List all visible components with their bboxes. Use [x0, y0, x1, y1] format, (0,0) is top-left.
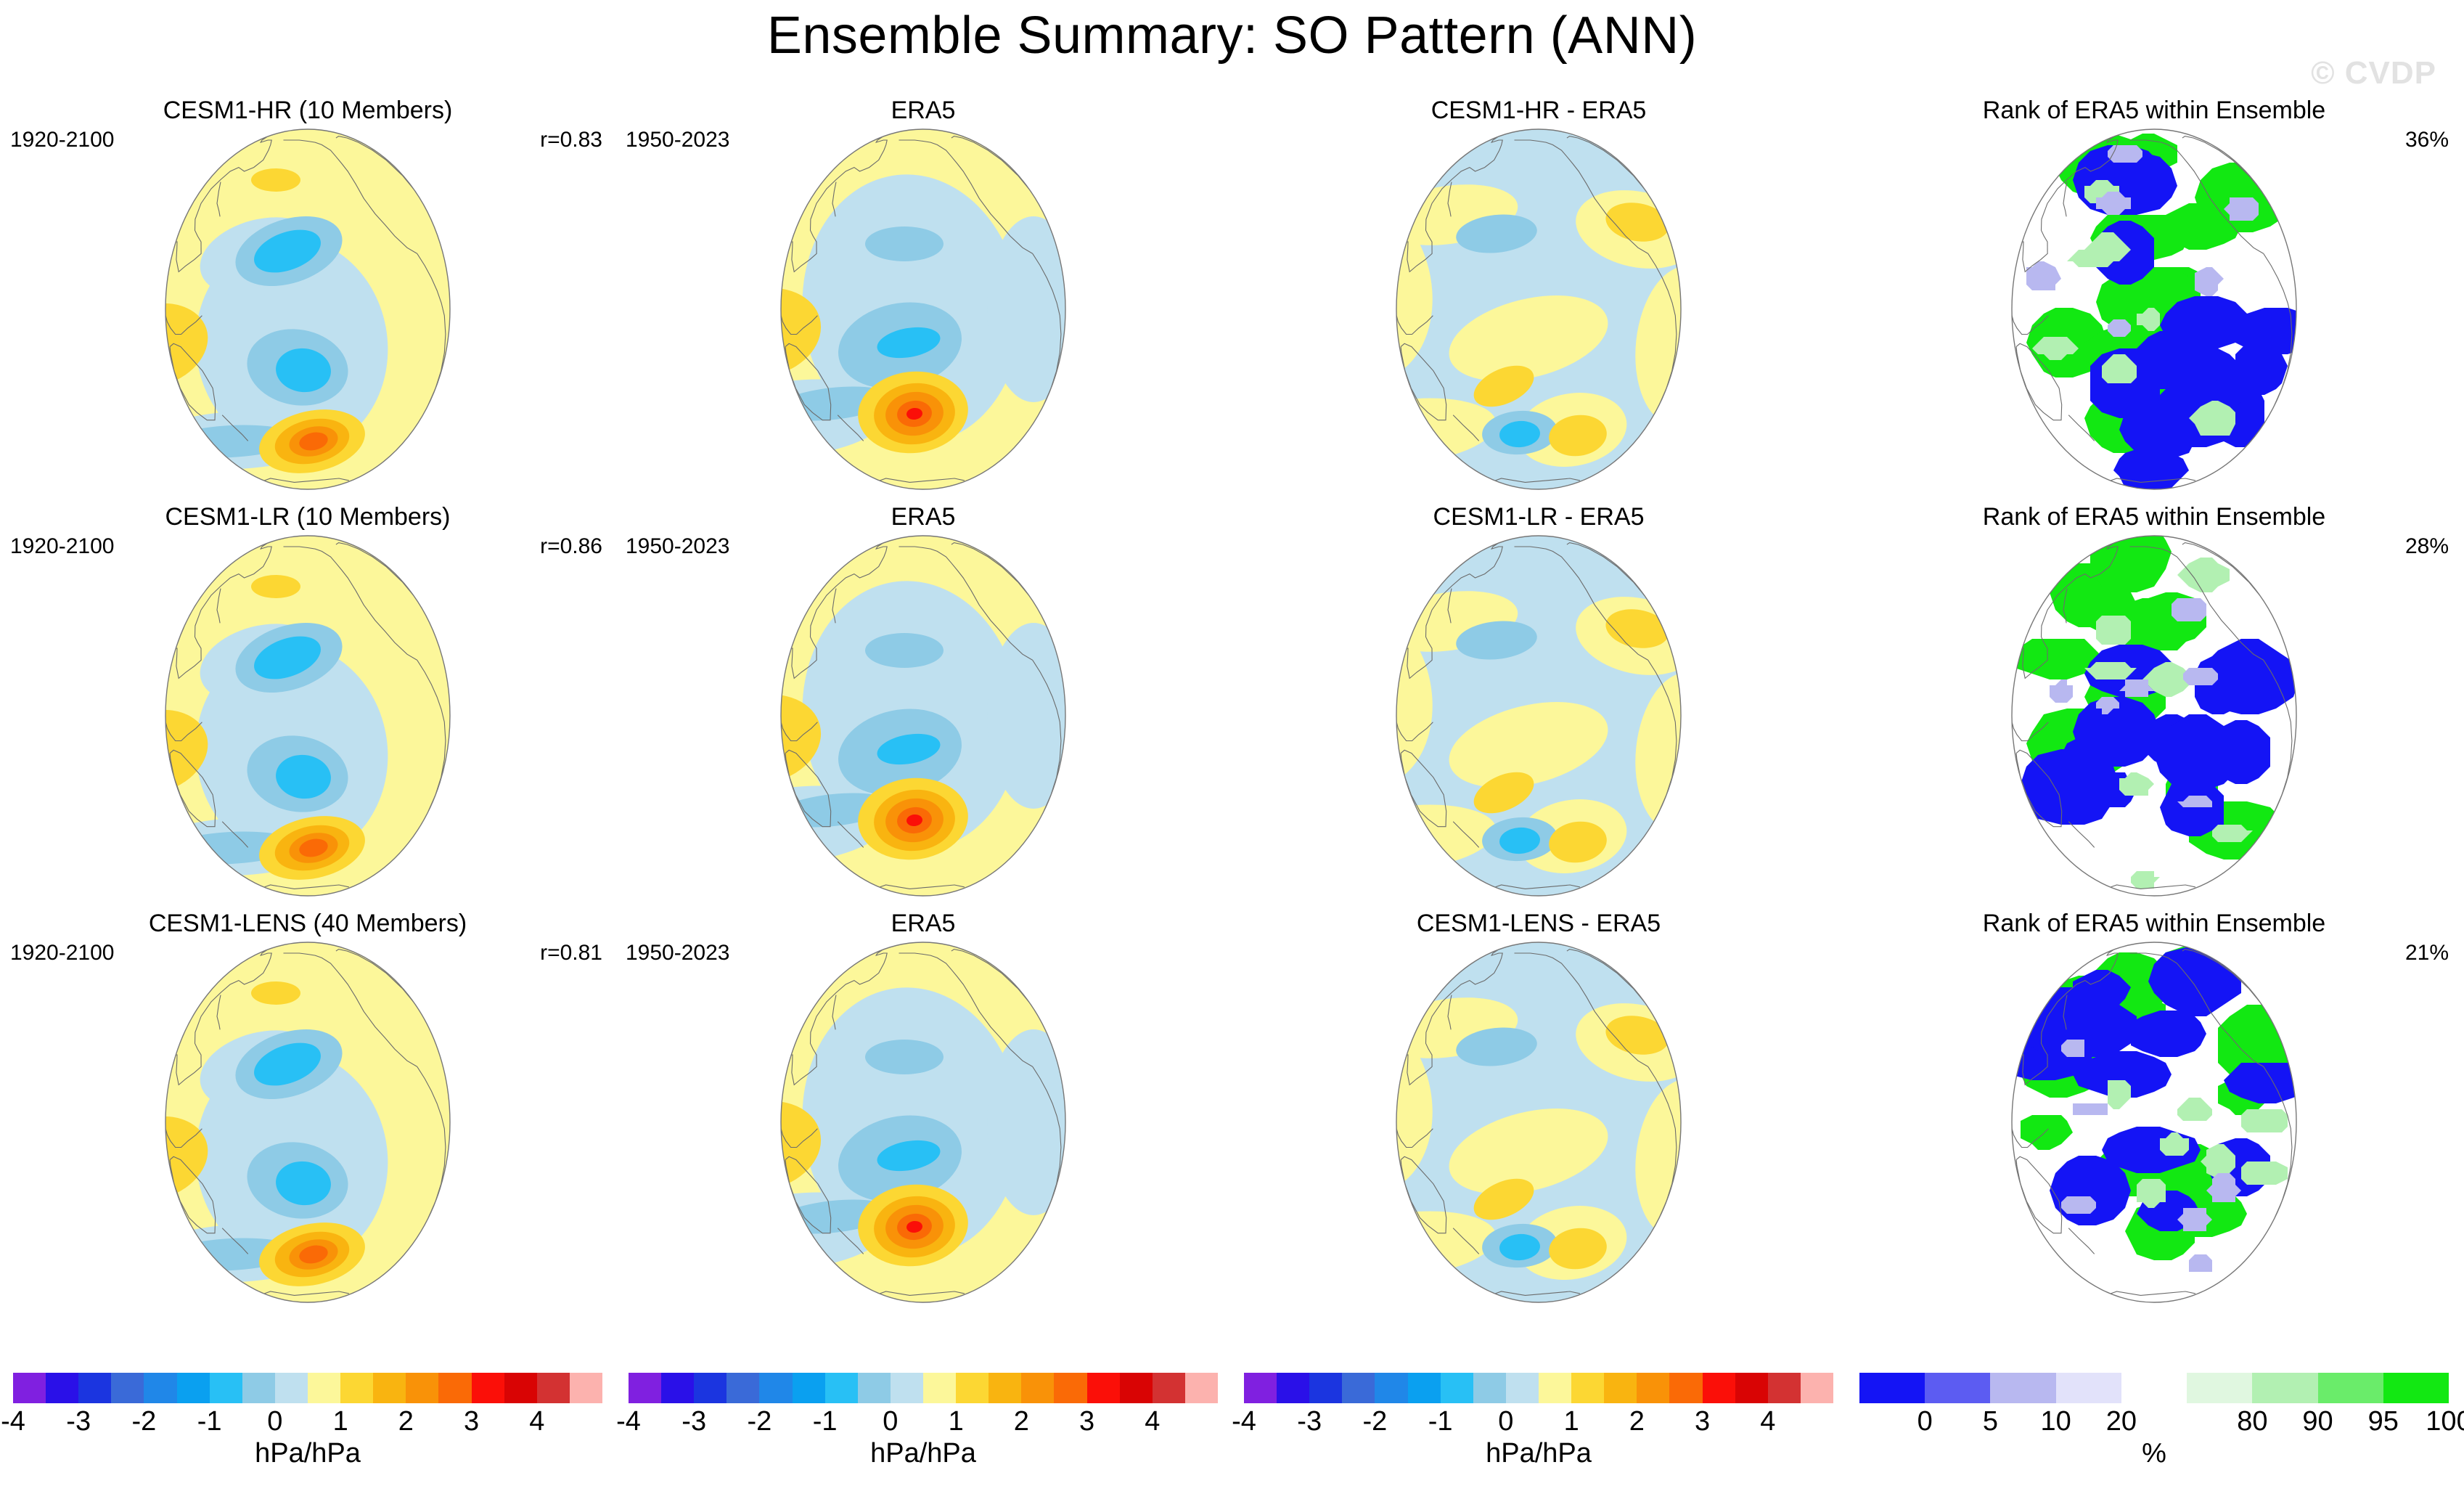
colorbar-swatch-11 — [989, 1373, 1021, 1403]
colorbar-swatch-4 — [2121, 1373, 2187, 1403]
globe-map — [1846, 941, 2462, 1304]
cvdp-watermark: © CVDP — [2311, 55, 2436, 91]
map-panel-2[interactable]: ERA51950-2023 — [615, 96, 1231, 502]
colorbar-swatch-5 — [177, 1373, 210, 1403]
panel-row: CESM1-LR (10 Members)1920-2100r=0.86ERA5… — [0, 502, 2464, 909]
colorbar-swatch-14 — [1703, 1373, 1735, 1403]
panel-title: CESM1-LENS (40 Members) — [0, 909, 615, 938]
colorbar-unit: % — [1859, 1438, 2449, 1469]
page-title: Ensemble Summary: SO Pattern (ANN) — [0, 6, 2464, 65]
panel-title: Rank of ERA5 within Ensemble — [1846, 909, 2462, 938]
map-panel-3[interactable]: CESM1-HR - ERA5 — [1231, 96, 1846, 502]
panel-grid: CESM1-HR (10 Members)1920-2100r=0.83ERA5… — [0, 96, 2464, 1315]
colorbar-swatch-3 — [726, 1373, 759, 1403]
colorbar-tick-label: 4 — [1145, 1406, 1160, 1437]
colorbar-swatch-13 — [1054, 1373, 1086, 1403]
colorbar-tick-label: -1 — [813, 1406, 838, 1437]
colorbar-ticks: 051020809095100 — [1859, 1406, 2449, 1440]
panel-title: Rank of ERA5 within Ensemble — [1846, 502, 2462, 531]
colorbar-tick-label: -2 — [748, 1406, 772, 1437]
colorbar-swatch-7 — [2318, 1373, 2383, 1403]
colorbar-swatch-1 — [1277, 1373, 1309, 1403]
globe-map — [615, 941, 1231, 1304]
globe-map — [0, 941, 615, 1304]
colorbar-swatch-15 — [1735, 1373, 1768, 1403]
panel-title: ERA5 — [615, 502, 1231, 531]
colorbar-tick-label: 1 — [949, 1406, 964, 1437]
colorbar-tick-label: 4 — [529, 1406, 544, 1437]
colorbar-swatch-2 — [694, 1373, 726, 1403]
colorbar-swatch-14 — [472, 1373, 504, 1403]
colorbar-swatch-6 — [825, 1373, 858, 1403]
colorbar-swatch-2 — [1309, 1373, 1342, 1403]
map-panel-8[interactable]: Rank of ERA5 within Ensemble28% — [1846, 502, 2462, 909]
colorbar-tick-label: -2 — [132, 1406, 157, 1437]
panel-title: CESM1-LENS - ERA5 — [1231, 909, 1846, 938]
colorbar-tick-label: -1 — [1428, 1406, 1453, 1437]
colorbar-tick-label: -4 — [616, 1406, 641, 1437]
colorbar-swatch-16 — [1153, 1373, 1185, 1403]
colorbar-tick-label: -3 — [682, 1406, 706, 1437]
colorbar-tick-label: 0 — [267, 1406, 282, 1437]
panel-title: ERA5 — [615, 96, 1231, 125]
colorbar-tick-label: 95 — [2368, 1406, 2399, 1437]
colorbar-swatch-17 — [1185, 1373, 1218, 1403]
colorbar-swatch-9 — [308, 1373, 340, 1403]
colorbar-swatch-13 — [438, 1373, 471, 1403]
colorbar-swatch-3 — [2056, 1373, 2121, 1403]
globe-map — [1846, 534, 2462, 897]
colorbar-swatch-17 — [1801, 1373, 1833, 1403]
map-panel-5[interactable]: CESM1-LR (10 Members)1920-2100r=0.86 — [0, 502, 615, 909]
map-panel-9[interactable]: CESM1-LENS (40 Members)1920-2100r=0.81 — [0, 909, 615, 1315]
colorbar-tick-label: 20 — [2106, 1406, 2137, 1437]
colorbar-swatch-11 — [1604, 1373, 1637, 1403]
colorbar-swatch-8 — [2383, 1373, 2449, 1403]
colorbar-swatch-5 — [793, 1373, 825, 1403]
colorbar-swatch-15 — [1120, 1373, 1153, 1403]
colorbar-swatch-12 — [406, 1373, 438, 1403]
colorbar-swatch-2 — [1990, 1373, 2055, 1403]
colorbar-swatch-7 — [858, 1373, 891, 1403]
map-panel-11[interactable]: CESM1-LENS - ERA5 — [1231, 909, 1846, 1315]
colorbar-swatch-14 — [1087, 1373, 1120, 1403]
colorbar-swatch-0 — [13, 1373, 46, 1403]
colorbar-tick-label: -4 — [1, 1406, 25, 1437]
anomaly-colorbar-1: -4-3-2-101234hPa/hPa — [13, 1347, 602, 1486]
colorbar-tick-label: 5 — [1983, 1406, 1998, 1437]
colorbar-swatch-4 — [1375, 1373, 1407, 1403]
colorbar-tick-label: 10 — [2040, 1406, 2071, 1437]
colorbar-swatch-17 — [570, 1373, 602, 1403]
colorbar-swatch-16 — [1768, 1373, 1801, 1403]
map-panel-12[interactable]: Rank of ERA5 within Ensemble21% — [1846, 909, 2462, 1315]
colorbar-tick-label: 3 — [1695, 1406, 1710, 1437]
colorbar-tick-label: 1 — [1564, 1406, 1579, 1437]
colorbar-swatch-1 — [661, 1373, 694, 1403]
globe-map — [615, 128, 1231, 491]
colorbar-swatch-9 — [1539, 1373, 1571, 1403]
rank-colorbar: 051020809095100% — [1859, 1347, 2449, 1486]
colorbar-swatch-12 — [1637, 1373, 1669, 1403]
colorbar-swatch-9 — [923, 1373, 956, 1403]
colorbar-swatch-8 — [1506, 1373, 1539, 1403]
panel-title: Rank of ERA5 within Ensemble — [1846, 96, 2462, 125]
colorbar-swatches — [1244, 1373, 1833, 1403]
panel-row: CESM1-LENS (40 Members)1920-2100r=0.81ER… — [0, 909, 2464, 1315]
colorbar-ticks: -4-3-2-101234 — [629, 1406, 1218, 1440]
map-panel-6[interactable]: ERA51950-2023 — [615, 502, 1231, 909]
panel-row: CESM1-HR (10 Members)1920-2100r=0.83ERA5… — [0, 96, 2464, 502]
globe-map — [615, 534, 1231, 897]
colorbar-swatch-4 — [144, 1373, 176, 1403]
colorbar-swatch-6 — [2252, 1373, 2317, 1403]
colorbar-swatch-15 — [504, 1373, 537, 1403]
map-panel-4[interactable]: Rank of ERA5 within Ensemble36% — [1846, 96, 2462, 502]
colorbar-swatches — [1859, 1373, 2449, 1403]
map-panel-7[interactable]: CESM1-LR - ERA5 — [1231, 502, 1846, 909]
colorbar-swatch-13 — [1669, 1373, 1702, 1403]
colorbar-swatch-4 — [759, 1373, 792, 1403]
colorbar-swatch-3 — [111, 1373, 144, 1403]
colorbar-tick-label: 0 — [1498, 1406, 1513, 1437]
colorbar-tick-label: -3 — [1297, 1406, 1322, 1437]
colorbar-swatch-10 — [340, 1373, 373, 1403]
colorbar-swatch-7 — [1473, 1373, 1506, 1403]
panel-title: CESM1-LR (10 Members) — [0, 502, 615, 531]
colorbar-tick-label: 3 — [1079, 1406, 1094, 1437]
colorbar-tick-label: -2 — [1363, 1406, 1388, 1437]
colorbar-swatch-10 — [956, 1373, 989, 1403]
colorbar-tick-label: 1 — [333, 1406, 348, 1437]
panel-title: ERA5 — [615, 909, 1231, 938]
colorbar-tick-label: -4 — [1232, 1406, 1256, 1437]
colorbar-tick-label: 100 — [2426, 1406, 2464, 1437]
globe-map — [1231, 128, 1846, 491]
colorbar-tick-label: 80 — [2237, 1406, 2267, 1437]
anomaly-colorbar-2: -4-3-2-101234hPa/hPa — [629, 1347, 1218, 1486]
colorbar-swatch-0 — [629, 1373, 661, 1403]
colorbar-swatch-8 — [891, 1373, 923, 1403]
globe-map — [0, 128, 615, 491]
colorbar-tick-label: 2 — [398, 1406, 414, 1437]
colorbar-swatch-2 — [78, 1373, 111, 1403]
colorbar-swatch-1 — [46, 1373, 78, 1403]
colorbar-tick-label: 2 — [1629, 1406, 1645, 1437]
colorbar-swatch-8 — [275, 1373, 308, 1403]
colorbar-swatch-7 — [242, 1373, 275, 1403]
colorbar-swatch-5 — [2187, 1373, 2252, 1403]
colorbar-unit: hPa/hPa — [1244, 1438, 1833, 1469]
globe-map — [1846, 128, 2462, 491]
colorbar-tick-label: 90 — [2302, 1406, 2333, 1437]
map-panel-10[interactable]: ERA51950-2023 — [615, 909, 1231, 1315]
globe-map — [0, 534, 615, 897]
colorbar-unit: hPa/hPa — [629, 1438, 1218, 1469]
colorbar-tick-label: -1 — [197, 1406, 222, 1437]
colorbar-tick-label: 0 — [1917, 1406, 1933, 1437]
colorbar-tick-label: 4 — [1760, 1406, 1775, 1437]
colorbar-swatch-10 — [1571, 1373, 1604, 1403]
colorbar-swatch-11 — [373, 1373, 406, 1403]
panel-title: CESM1-HR - ERA5 — [1231, 96, 1846, 125]
colorbar-swatches — [629, 1373, 1218, 1403]
colorbar-swatch-3 — [1342, 1373, 1375, 1403]
colorbar-row: -4-3-2-101234hPa/hPa-4-3-2-101234hPa/hPa… — [0, 1347, 2464, 1486]
colorbar-tick-label: 2 — [1014, 1406, 1029, 1437]
colorbar-swatch-1 — [1925, 1373, 1990, 1403]
colorbar-unit: hPa/hPa — [13, 1438, 602, 1469]
colorbar-ticks: -4-3-2-101234 — [1244, 1406, 1833, 1440]
anomaly-colorbar-3: -4-3-2-101234hPa/hPa — [1244, 1347, 1833, 1486]
colorbar-swatch-6 — [1441, 1373, 1473, 1403]
globe-map — [1231, 941, 1846, 1304]
colorbar-ticks: -4-3-2-101234 — [13, 1406, 602, 1440]
panel-title: CESM1-HR (10 Members) — [0, 96, 615, 125]
globe-map — [1231, 534, 1846, 897]
colorbar-swatch-16 — [537, 1373, 570, 1403]
map-panel-1[interactable]: CESM1-HR (10 Members)1920-2100r=0.83 — [0, 96, 615, 502]
colorbar-swatch-0 — [1244, 1373, 1277, 1403]
panel-title: CESM1-LR - ERA5 — [1231, 502, 1846, 531]
colorbar-tick-label: -3 — [66, 1406, 91, 1437]
colorbar-swatch-0 — [1859, 1373, 1925, 1403]
colorbar-tick-label: 3 — [464, 1406, 479, 1437]
colorbar-swatch-6 — [210, 1373, 242, 1403]
colorbar-tick-label: 0 — [883, 1406, 898, 1437]
colorbar-swatch-5 — [1408, 1373, 1441, 1403]
colorbar-swatches — [13, 1373, 602, 1403]
colorbar-swatch-12 — [1021, 1373, 1054, 1403]
